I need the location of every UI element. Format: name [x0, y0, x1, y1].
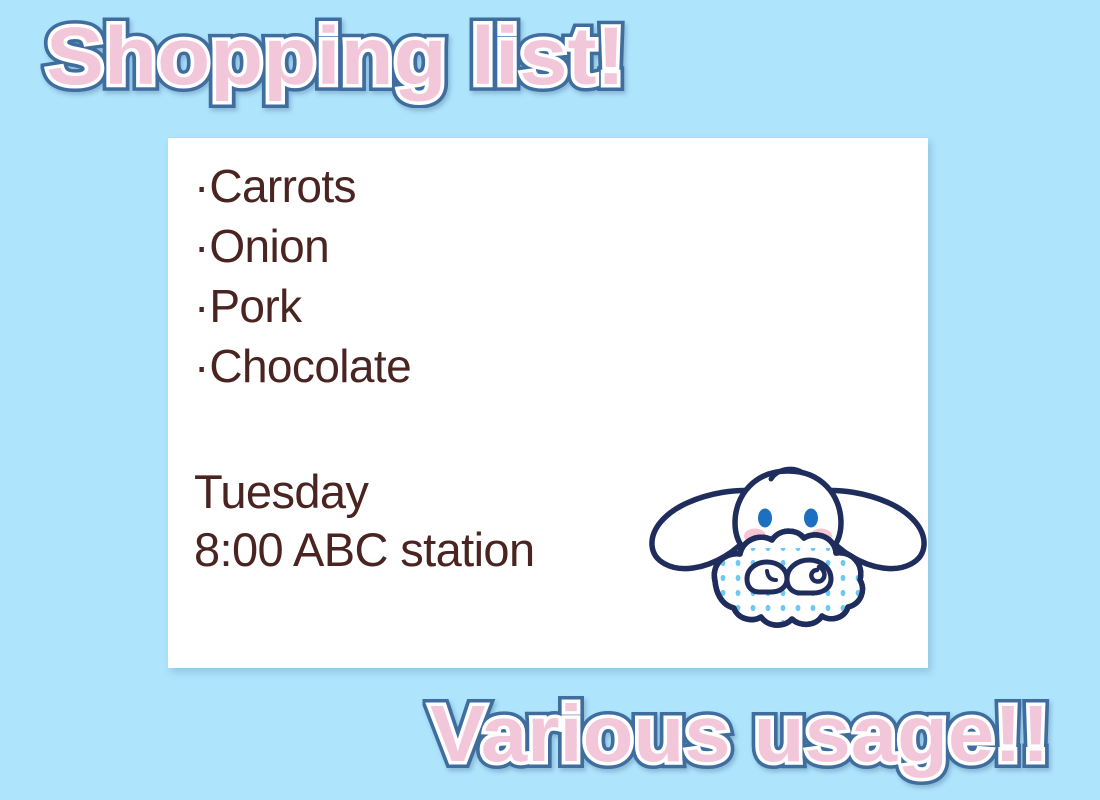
list-bullet-icon: · — [194, 220, 209, 272]
memo-card: ·Carrots ·Onion ·Pork ·Chocolate Tuesday… — [168, 138, 928, 668]
list-item: ·Carrots — [194, 156, 411, 216]
list-item-label: Chocolate — [209, 340, 411, 392]
list-bullet-icon: · — [194, 280, 209, 332]
list-bullet-icon: · — [194, 340, 209, 392]
list-item-label: Onion — [209, 220, 329, 272]
list-item-label: Pork — [209, 280, 301, 332]
cinnamoroll-character-icon — [643, 453, 933, 653]
schedule-block: Tuesday 8:00 ABC station — [194, 463, 535, 579]
shopping-list: ·Carrots ·Onion ·Pork ·Chocolate — [194, 156, 411, 396]
list-bullet-icon: · — [194, 160, 209, 212]
schedule-day: Tuesday — [194, 463, 535, 521]
list-item: ·Pork — [194, 276, 411, 336]
list-item-label: Carrots — [209, 160, 356, 212]
footer-title-fill: Various usage!! — [430, 694, 1050, 774]
page-title-fill: Shopping list! — [46, 16, 625, 98]
list-item: ·Onion — [194, 216, 411, 276]
list-item: ·Chocolate — [194, 336, 411, 396]
schedule-time-place: 8:00 ABC station — [194, 521, 535, 579]
